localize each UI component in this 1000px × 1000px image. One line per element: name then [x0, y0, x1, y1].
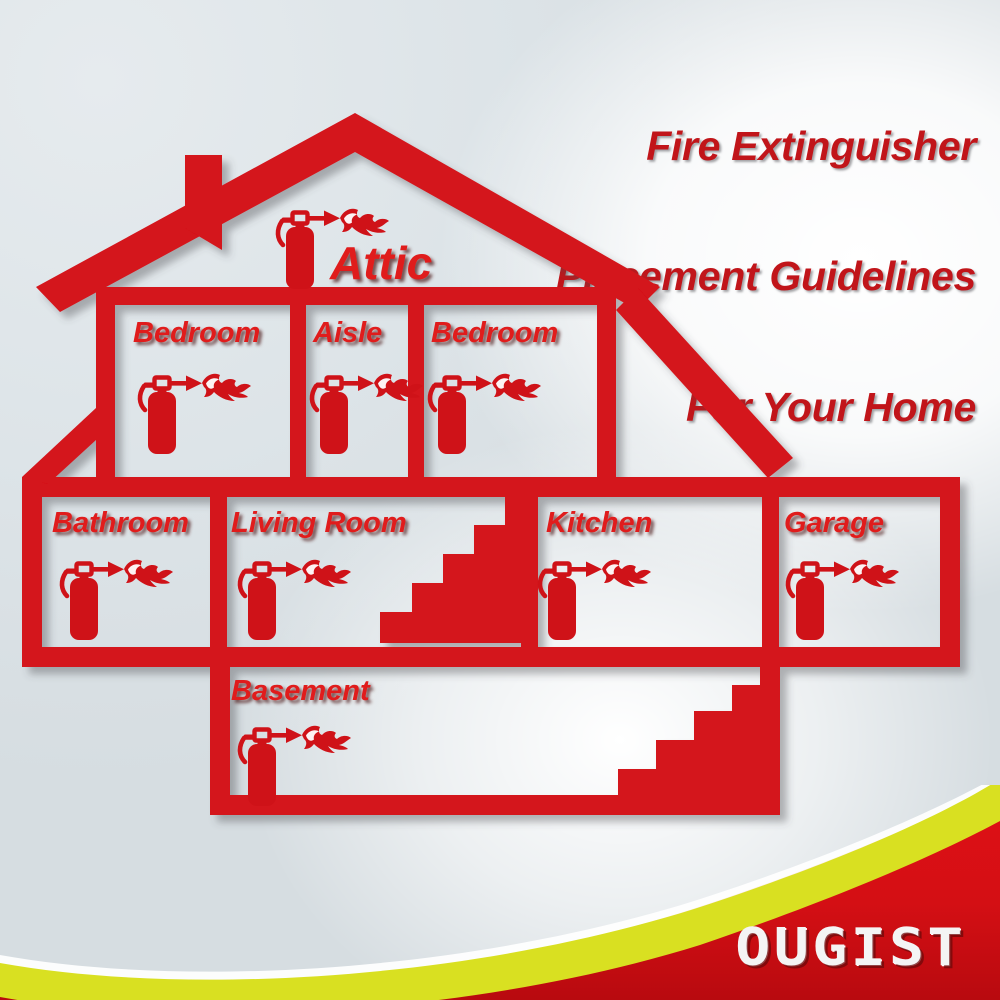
wall-living-kitchen: [521, 477, 538, 667]
upper-right-wall: [597, 287, 616, 477]
room-label-attic: Attic: [329, 237, 432, 289]
brand-banner: OUGIST: [0, 785, 1000, 1000]
fire-extinguisher-icon-kitchen: [540, 560, 651, 640]
fire-extinguisher-icon-living-room: [240, 560, 351, 640]
ground-floor-slab: [22, 647, 960, 667]
infographic-canvas: Fire Extinguisher Placement Guidelines F…: [0, 0, 1000, 1000]
fire-extinguisher-icon-garage: [788, 560, 899, 640]
fire-extinguisher-icon-bathroom: [62, 560, 173, 640]
wall-bathroom-living: [210, 477, 227, 667]
room-label-basement: Basement: [231, 675, 371, 707]
fire-extinguisher-icon-bedroom-left: [140, 374, 251, 454]
room-label-kitchen: Kitchen: [546, 507, 652, 539]
upper-left-wall: [96, 287, 115, 477]
ground-left-wall: [22, 477, 42, 667]
fire-extinguisher-icon-aisle: [312, 374, 423, 454]
room-label-bathroom: Bathroom: [52, 507, 189, 539]
room-label-living-room: Living Room: [231, 507, 407, 539]
basement-staircase: [618, 685, 760, 795]
house-structure: [22, 113, 960, 815]
room-label-aisle: Aisle: [312, 317, 382, 349]
fire-extinguisher-icon-bedroom-right: [430, 374, 541, 454]
room-label-bedroom-right: Bedroom: [431, 317, 558, 349]
brand-logo: OUGIST: [735, 918, 966, 978]
room-label-bedroom-left: Bedroom: [133, 317, 260, 349]
bathroom-eave: [22, 408, 96, 484]
wall-kitchen-garage: [762, 477, 779, 667]
garage-right-wall: [940, 477, 960, 667]
room-label-garage: Garage: [784, 507, 884, 539]
attic-floor-slab: [96, 287, 616, 305]
ground-floor-ceiling: [22, 477, 960, 497]
wall-bedroom-aisle: [290, 300, 306, 477]
